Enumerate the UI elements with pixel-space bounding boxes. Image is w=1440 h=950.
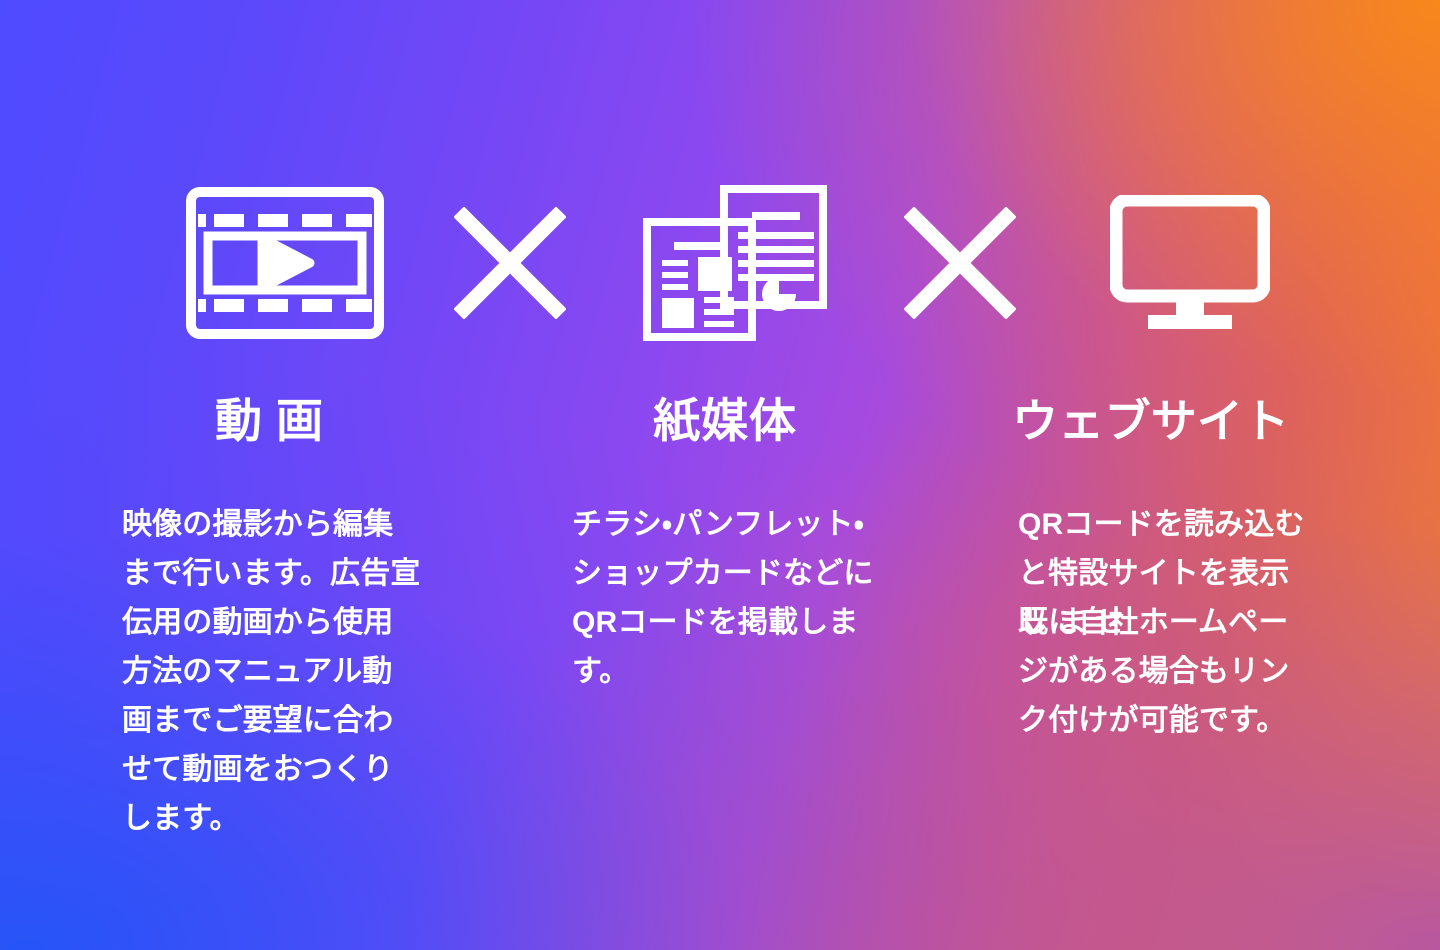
- column-web-body-line-5: ク付けが可能です。: [1018, 696, 1338, 745]
- multiply-x-icon: [904, 207, 1016, 319]
- column-web-body-line-4: ジがある場合もリン: [1018, 647, 1338, 696]
- video-icon-container: [140, 168, 430, 358]
- column-web-body-line-2: と特設サイトを表示: [1018, 549, 1338, 598]
- column-web-body: QRコードを読み込む と特設サイトを表示 既に自社ホームペー しませ ジがある場…: [1018, 500, 1338, 745]
- column-print: 紙媒体 チラシ・パンフレット・ショップカードなどにQRコードを掲載します。: [560, 392, 890, 696]
- column-video: 動画 映像の撮影から編集まで行います。広告宣伝用の動画から使用方法のマニュアル動…: [104, 392, 434, 843]
- column-video-title: 動画: [104, 392, 434, 468]
- print-icon-container: [590, 168, 880, 358]
- column-web-body-line-1: QRコードを読み込む: [1018, 500, 1338, 549]
- column-video-body: 映像の撮影から編集まで行います。広告宣伝用の動画から使用方法のマニュアル動画まで…: [122, 500, 422, 843]
- poster-canvas: 動画 映像の撮影から編集まで行います。広告宣伝用の動画から使用方法のマニュアル動…: [0, 0, 1440, 950]
- column-print-title: 紙媒体: [560, 392, 890, 468]
- web-icon-container: [1040, 168, 1340, 358]
- multiply-x-icon: [454, 207, 566, 319]
- film-strip-play-icon: [186, 187, 384, 339]
- icon-row: [0, 168, 1440, 358]
- column-print-body: チラシ・パンフレット・ショップカードなどにQRコードを掲載します。: [572, 500, 884, 696]
- desktop-monitor-icon: [1110, 195, 1270, 331]
- columns-row: 動画 映像の撮影から編集まで行います。広告宣伝用の動画から使用方法のマニュアル動…: [0, 392, 1440, 912]
- separator-1-container: [430, 168, 590, 358]
- documents-icon: [642, 184, 828, 342]
- poster-content: 動画 映像の撮影から編集まで行います。広告宣伝用の動画から使用方法のマニュアル動…: [0, 0, 1440, 950]
- column-web-body-overlay-text: しませ: [1018, 598, 1134, 647]
- separator-2-container: [880, 168, 1040, 358]
- column-web-title: ウェブサイト: [1012, 392, 1348, 468]
- column-web: ウェブサイト QRコードを読み込む と特設サイトを表示 既に自社ホームペー しま…: [1012, 392, 1348, 745]
